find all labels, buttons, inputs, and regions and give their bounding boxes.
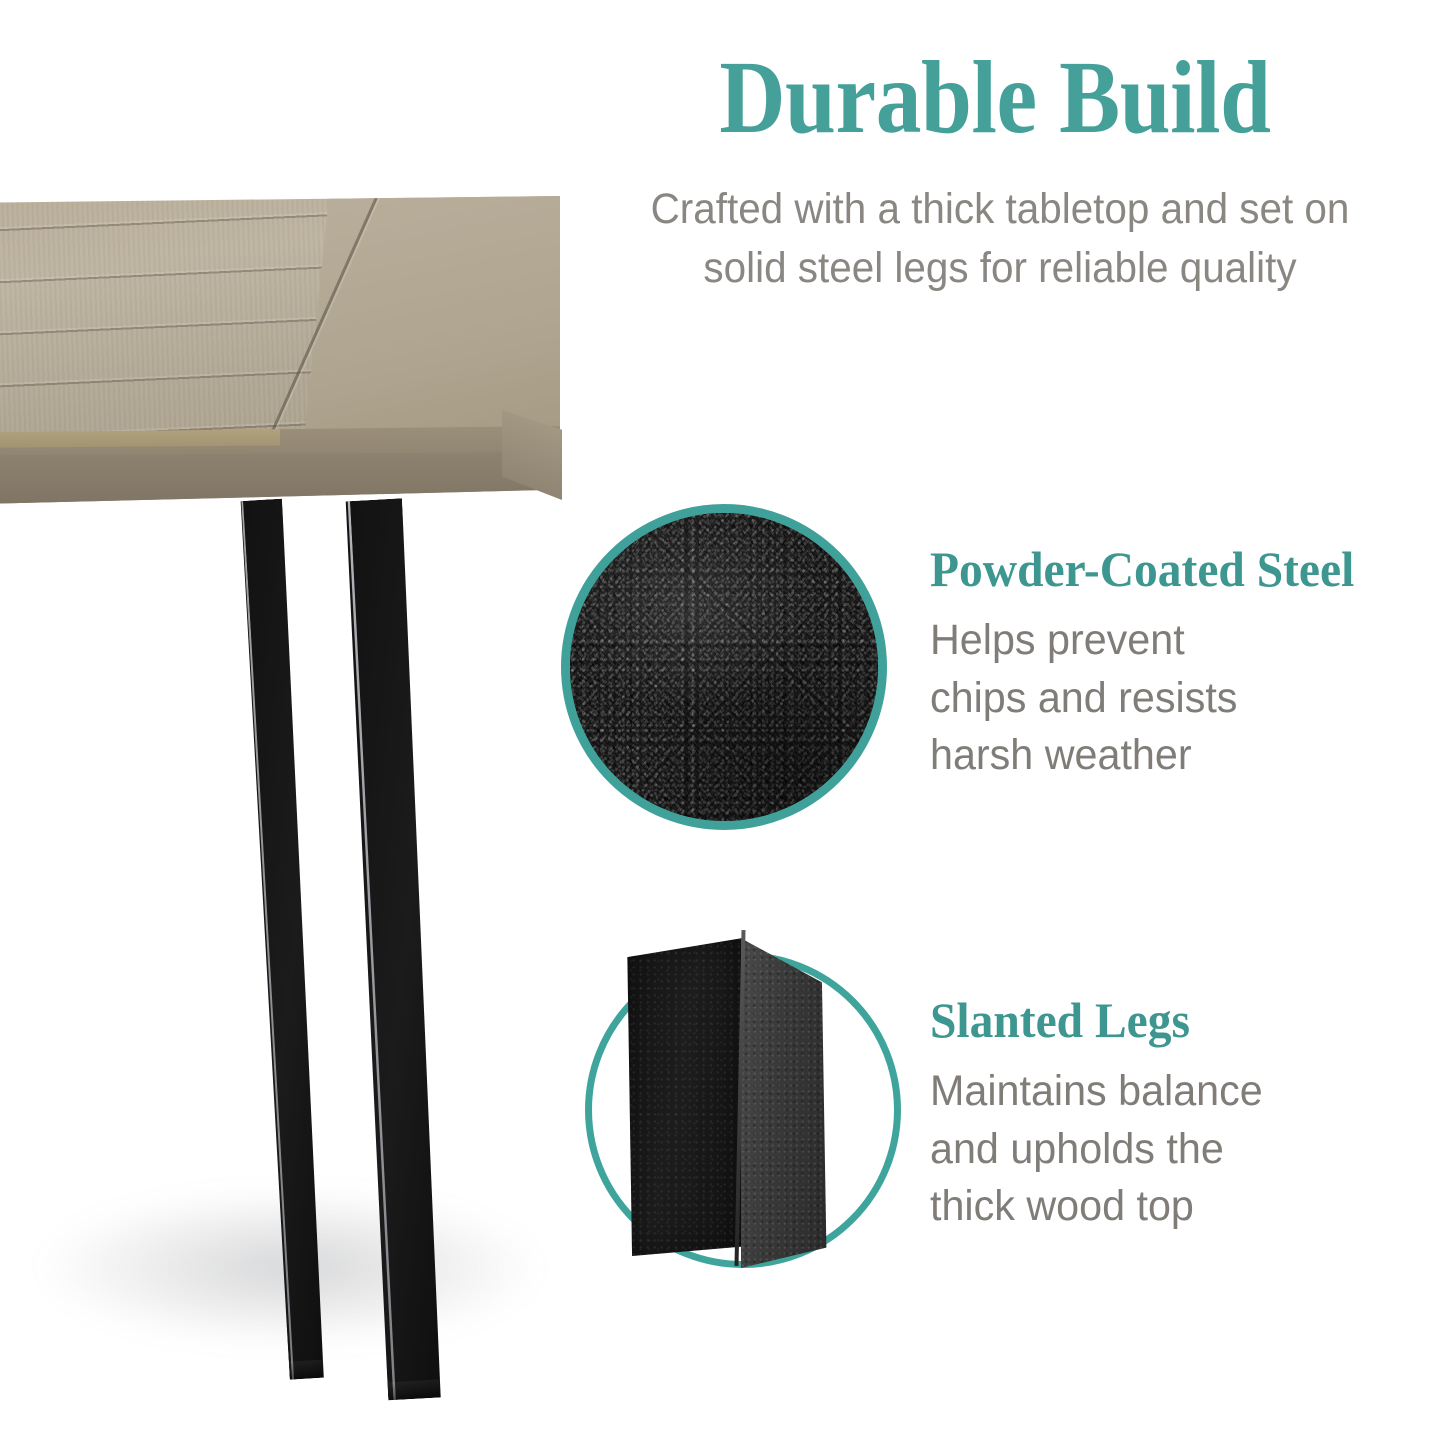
- feature-body-slanted-legs: Maintains balance and upholds the thick …: [930, 1063, 1263, 1236]
- page-subtitle-line-2: solid steel legs for reliable quality: [624, 239, 1376, 298]
- leg-foot: [387, 1379, 452, 1401]
- page-subtitle: Crafted with a thick tabletop and set on…: [624, 180, 1376, 299]
- feature-body-line-2: and upholds the: [930, 1121, 1263, 1179]
- page-title: Durable Build: [647, 46, 1342, 150]
- tabletop-edge-shadow-band: [0, 452, 560, 514]
- feature-body-line-1: Maintains balance: [930, 1063, 1263, 1121]
- product-photo: [0, 0, 620, 1445]
- leg-face-right: [741, 928, 829, 1268]
- tabletop-thick-edge: [0, 426, 560, 512]
- powder-texture-sheen: [570, 513, 878, 821]
- infographic-page: Durable Build Crafted with a thick table…: [0, 0, 1445, 1445]
- leg-block: [625, 928, 825, 1280]
- tabletop-border-frame: [0, 196, 560, 458]
- leg-face-left: [625, 938, 743, 1256]
- feature-body-powder-coated-steel: Helps prevent chips and resists harsh we…: [930, 612, 1237, 785]
- page-subtitle-line-1: Crafted with a thick tabletop and set on: [624, 180, 1376, 239]
- powder-coated-texture-icon: [561, 504, 887, 830]
- feature-body-line-2: chips and resists: [930, 670, 1237, 728]
- feature-body-line-1: Helps prevent: [930, 612, 1237, 670]
- feature-title-slanted-legs: Slanted Legs: [930, 995, 1190, 1045]
- table-leg-block-icon: [585, 952, 901, 1268]
- feature-body-line-3: thick wood top: [930, 1178, 1263, 1236]
- feature-title-powder-coated-steel: Powder-Coated Steel: [930, 544, 1354, 594]
- tabletop: [0, 196, 560, 526]
- feature-body-line-3: harsh weather: [930, 727, 1237, 785]
